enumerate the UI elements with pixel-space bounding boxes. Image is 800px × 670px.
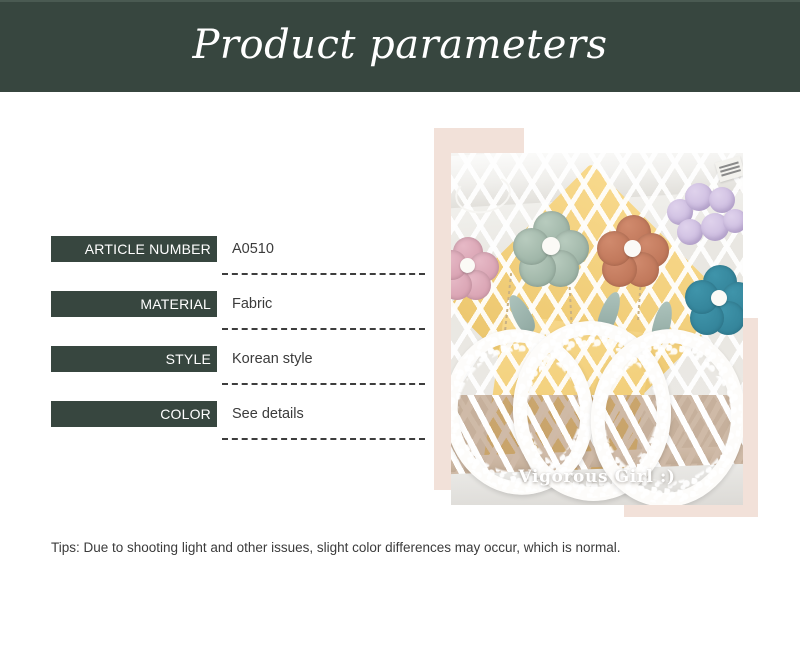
table-row: COLOR See details bbox=[51, 401, 431, 456]
spec-value-style: Korean style bbox=[232, 346, 313, 372]
table-row: MATERIAL Fabric bbox=[51, 291, 431, 346]
product-photo-block: Vigorous Girl :) bbox=[434, 128, 758, 517]
tips-text: Tips: Due to shooting light and other is… bbox=[51, 540, 621, 555]
row-divider bbox=[222, 328, 425, 330]
product-photo: Vigorous Girl :) bbox=[451, 153, 743, 505]
table-row: STYLE Korean style bbox=[51, 346, 431, 401]
photo-caption: Vigorous Girl :) bbox=[451, 467, 743, 487]
row-divider bbox=[222, 273, 425, 275]
rust-crochet-flower bbox=[597, 215, 669, 287]
spec-label-color: COLOR bbox=[51, 401, 217, 427]
lavender-bubble-candle bbox=[665, 183, 743, 249]
spec-label-article-number: ARTICLE NUMBER bbox=[51, 236, 217, 262]
row-divider bbox=[222, 383, 425, 385]
sage-green-crochet-flower bbox=[513, 211, 589, 287]
spec-label-material: MATERIAL bbox=[51, 291, 217, 317]
page-title: Product parameters bbox=[192, 25, 607, 65]
product-parameters-table: ARTICLE NUMBER A0510 MATERIAL Fabric STY… bbox=[51, 236, 431, 456]
pink-crochet-flower bbox=[451, 237, 499, 299]
spec-label-style: STYLE bbox=[51, 346, 217, 372]
spec-value-color: See details bbox=[232, 401, 304, 427]
teal-crochet-flower bbox=[685, 265, 743, 335]
page-header-banner: Product parameters bbox=[0, 0, 800, 92]
spec-value-article-number: A0510 bbox=[232, 236, 274, 262]
row-divider bbox=[222, 438, 425, 440]
spec-value-material: Fabric bbox=[232, 291, 272, 317]
table-row: ARTICLE NUMBER A0510 bbox=[51, 236, 431, 291]
